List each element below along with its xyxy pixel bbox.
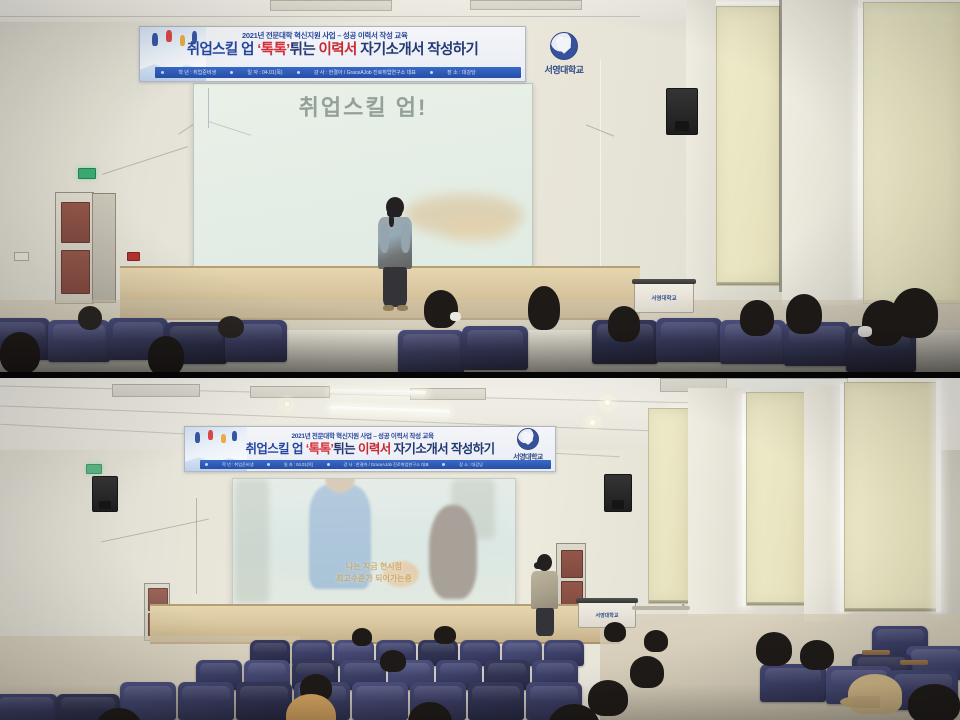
- university-logo: 서영대학교: [530, 32, 598, 76]
- cap-brim: [840, 696, 880, 708]
- projection-screen-icon: 취업스킬 업!: [193, 83, 533, 275]
- slide-title: 취업스킬 업!: [194, 90, 532, 122]
- banner-info-item: 장 소 : 대강당: [459, 462, 483, 468]
- slide-overlay-line-1: 나는 지금 현시점: [233, 561, 515, 572]
- banner-title-part-3: 튀는: [290, 42, 319, 58]
- loudspeaker-icon: [604, 474, 632, 512]
- face-mask-icon: [858, 326, 872, 337]
- banner-title: 취업스킬 업 ‘톡톡’튀는 이력서 자기소개서 작성하기: [163, 38, 502, 59]
- loudspeaker-icon: [92, 476, 118, 512]
- exit-sign-icon: [78, 168, 96, 179]
- power-outlet-icon: [14, 252, 29, 261]
- banner-title-part-2: ‘톡톡’: [303, 442, 333, 456]
- cap-icon: [848, 674, 902, 714]
- wall-column: [782, 0, 858, 305]
- banner-info-item: 학 년 : 취업준비생: [178, 69, 216, 76]
- face-mask-icon: [534, 562, 543, 569]
- projection-screen-icon: 나는 지금 현시점 최고수준가 되어가는중: [232, 478, 516, 610]
- photo-bottom: 나는 지금 현시점 최고수준가 되어가는중 2021년 전문대학 혁신지원 사업…: [0, 378, 960, 720]
- university-logo: 서영대학교: [500, 428, 556, 462]
- banner-title-part-2: ‘톡톡’: [254, 42, 290, 58]
- university-crest-icon: [517, 428, 539, 450]
- presenter-trousers: [536, 608, 554, 636]
- banner-info-item: 학 년 : 취업준비생: [222, 462, 254, 468]
- presenter-jacket: [531, 571, 558, 609]
- banner-title-part-4: 이력서: [358, 442, 394, 456]
- banner-title-part-4: 이력서: [319, 42, 361, 58]
- university-name: 서영대학교: [500, 452, 556, 462]
- photo-divider: [0, 372, 960, 378]
- university-crest-icon: [550, 32, 578, 60]
- banner-info-item: 일 자 : 04.01(목): [247, 69, 282, 76]
- roller-blind-icon: [844, 382, 938, 612]
- banner-title-part-1: 취업스킬 업: [187, 42, 254, 58]
- female-presenter-standing-at-podium: [528, 554, 562, 638]
- university-name: 서영대학교: [530, 63, 598, 76]
- roller-blind-icon: [716, 6, 780, 286]
- banner-title-part-5: 자기소개서 작성하기: [394, 442, 495, 456]
- banner-info-strip: 학 년 : 취업준비생 일 자 : 04.01(목) 강 사 : 한결아 / G…: [200, 460, 551, 469]
- exit-sign-icon: [86, 464, 102, 474]
- downlight-icon: [283, 400, 291, 408]
- banner-info-strip: 학 년 : 취업준비생 일 자 : 04.01(목) 강 사 : 한결아 / G…: [155, 67, 521, 78]
- banner-info-item: 일 자 : 04.01(목): [284, 462, 313, 468]
- door-icon: [55, 192, 94, 304]
- projected-photo: [233, 479, 515, 609]
- window-light-edge: [936, 380, 941, 612]
- podium: 서영대학교: [634, 281, 694, 313]
- podium-label: 서영대학교: [579, 612, 635, 619]
- wall-column: [804, 386, 844, 622]
- event-banner: 2021년 전문대학 혁신지원 사업 – 성공 이력서 작성 교육 취업스킬 업…: [139, 26, 526, 82]
- banner-info-item: 강 사 : 한결아 / GraceAJob 진로취업연구소 대표: [344, 462, 429, 468]
- roller-blind-icon: [863, 2, 960, 304]
- banner-info-item: 강 사 : 한결아 / GraceAJob 진로취업연구소 대표: [314, 69, 416, 76]
- female-presenter-with-microphone: [372, 197, 418, 315]
- banner-title-part-5: 자기소개서 작성하기: [360, 42, 478, 58]
- banner-title-part-1: 취업스킬 업: [245, 442, 302, 456]
- wall-column: [688, 388, 746, 616]
- downlight-icon: [603, 398, 612, 407]
- slide-overlay-line-2: 최고수준가 되어가는중: [233, 573, 515, 584]
- microphone-icon: [389, 214, 394, 227]
- banner-title-part-3: 튀는: [333, 442, 358, 456]
- photo-composite: 취업스킬 업! 2021년 전문대학 혁신지원 사업 – 성공 이력서 작성 교…: [0, 0, 960, 720]
- banner-info-item: 장 소 : 대강당: [447, 69, 476, 76]
- presenter-trousers: [383, 267, 407, 307]
- banner-title: 취업스킬 업 ‘톡톡’튀는 이력서 자기소개서 작성하기: [204, 438, 537, 457]
- wall-column: [686, 0, 716, 300]
- photo-top: 취업스킬 업! 2021년 전문대학 혁신지원 사업 – 성공 이력서 작성 교…: [0, 0, 960, 375]
- roller-blind-icon: [648, 408, 690, 604]
- face-mask-icon: [450, 312, 461, 321]
- loudspeaker-icon: [666, 88, 698, 135]
- fire-alarm-icon: [127, 252, 140, 261]
- door-icon: [92, 193, 116, 303]
- podium-label: 서영대학교: [635, 294, 693, 302]
- downlight-icon: [588, 418, 597, 427]
- roller-blind-icon: [746, 392, 806, 606]
